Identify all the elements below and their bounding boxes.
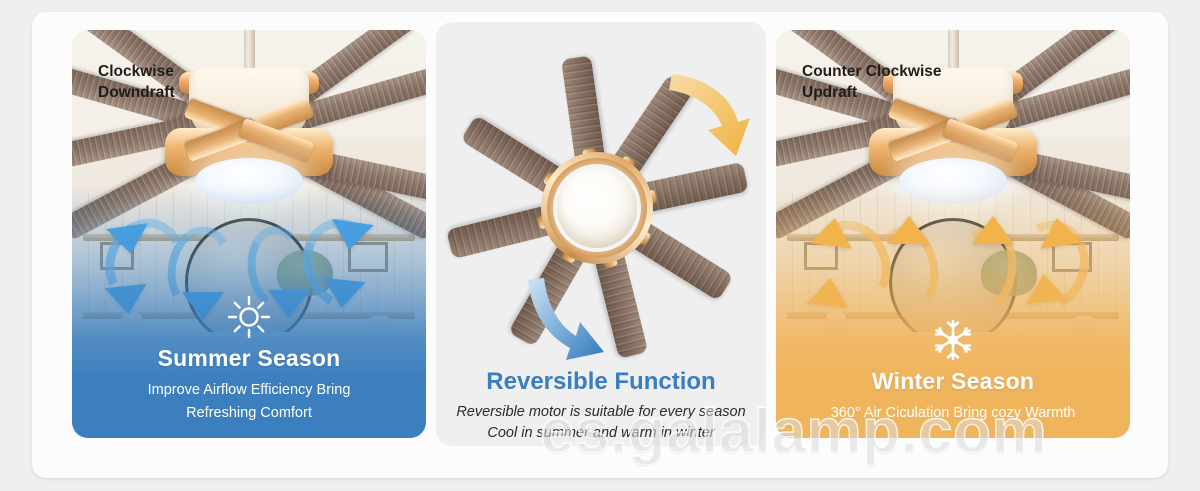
- arrow-forward-rotation: [669, 74, 750, 156]
- reversible-function-title: Reversible Function: [436, 368, 766, 396]
- sun-icon: [227, 295, 271, 339]
- summer-title: Summer Season: [72, 345, 426, 372]
- panel-winter-season: Counter Clockwise Updraft Winter Season …: [776, 30, 1130, 438]
- reversible-subtitle-line2: Cool in summer and warm in winter: [436, 423, 766, 444]
- winter-title: Winter Season: [776, 368, 1130, 395]
- reversible-function-subtitle: Reversible motor is suitable for every s…: [436, 402, 766, 444]
- arrow-reverse-rotation: [528, 278, 604, 360]
- summer-subtitle-line2: Refreshing Comfort: [72, 402, 426, 424]
- infographic-canvas: Clockwise Downdraft Summer Season Improv…: [0, 0, 1200, 491]
- winter-subtitle-line1: 360° Air Ciculation Bring cozy Warmth: [776, 402, 1130, 424]
- summer-subtitle-line1: Improve Airflow Efficiency Bring: [72, 379, 426, 401]
- label-counter-clockwise-updraft: Counter Clockwise Updraft: [802, 62, 942, 103]
- panel-summer-season: Clockwise Downdraft Summer Season Improv…: [72, 30, 426, 438]
- summer-caption: Summer Season Improve Airflow Efficiency…: [72, 295, 426, 424]
- label-clockwise-downdraft: Clockwise Downdraft: [98, 62, 175, 103]
- reversible-subtitle-line1: Reversible motor is suitable for every s…: [436, 402, 766, 423]
- panel-reversible-function: Reversible Function Reversible motor is …: [436, 22, 766, 446]
- winter-caption: Winter Season 360° Air Ciculation Bring …: [776, 318, 1130, 424]
- snowflake-icon: [931, 318, 975, 362]
